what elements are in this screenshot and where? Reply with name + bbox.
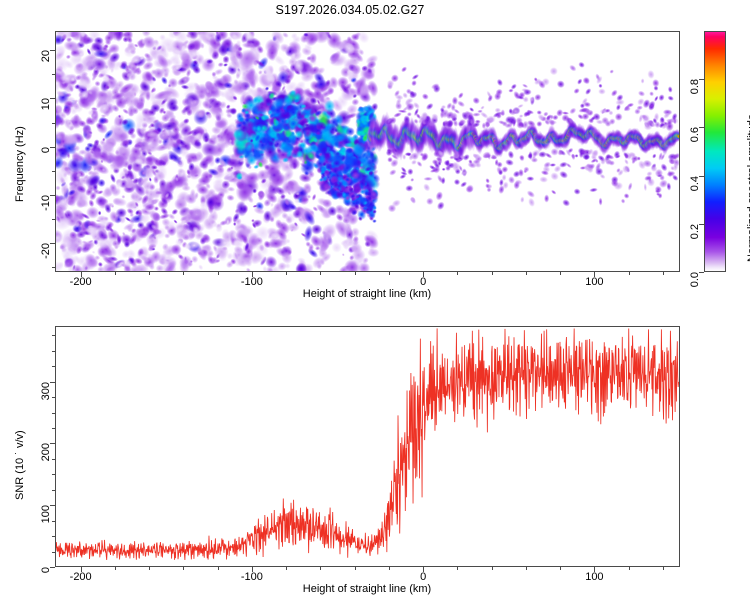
- colorbar-tick-label: 0.2: [689, 224, 701, 239]
- x-tick-minor: [355, 567, 356, 570]
- x-tick-minor: [457, 272, 458, 275]
- y-tick-minor: [52, 267, 55, 268]
- snr-x-axis-label: Height of straight line (km): [303, 583, 431, 595]
- colorbar-gradient: [704, 31, 726, 272]
- y-tick-minor: [52, 171, 55, 172]
- x-tick-minor: [355, 272, 356, 275]
- x-tick-minor: [286, 272, 287, 275]
- x-tick-label: -200: [70, 571, 92, 583]
- x-tick-minor: [115, 272, 116, 275]
- spectrogram-x-axis-label: Height of straight line (km): [303, 288, 431, 300]
- y-tick-minor: [52, 459, 55, 460]
- y-tick-minor: [52, 536, 55, 537]
- x-tick-minor: [663, 272, 664, 275]
- x-tick-label: -200: [70, 276, 92, 288]
- colorbar-label: Normalized spectral amplitude: [746, 114, 750, 262]
- x-tick-minor: [663, 567, 664, 570]
- x-tick-minor: [183, 567, 184, 570]
- x-tick-label: 100: [585, 571, 603, 583]
- y-tick-minor: [52, 366, 55, 367]
- y-tick-minor: [52, 521, 55, 522]
- colorbar-tick-label: 0.6: [689, 127, 701, 142]
- figure-canvas: S197.2026.034.05.02.G27 -200-1000100 201…: [0, 0, 750, 600]
- page-title: S197.2026.034.05.02.G27: [0, 3, 700, 17]
- x-tick-label: 0: [420, 276, 426, 288]
- y-tick-minor: [52, 335, 55, 336]
- x-tick-minor: [629, 567, 630, 570]
- y-tick-label: -10: [40, 195, 52, 211]
- snr-plot-area: [55, 326, 680, 567]
- x-tick-minor: [457, 567, 458, 570]
- x-tick-minor: [526, 272, 527, 275]
- x-tick-minor: [183, 272, 184, 275]
- x-tick-minor: [320, 567, 321, 570]
- y-tick-label: -20: [40, 243, 52, 259]
- y-tick-label: 100: [40, 505, 52, 523]
- x-tick-label: -100: [241, 276, 263, 288]
- y-tick-minor: [52, 474, 55, 475]
- colorbar-tick-label: 0.0: [689, 272, 701, 287]
- y-tick-label: 0: [40, 567, 52, 573]
- x-tick-minor: [218, 567, 219, 570]
- x-tick-minor: [389, 272, 390, 275]
- y-tick-label: 20: [40, 50, 52, 62]
- snr-line: [56, 328, 679, 560]
- y-tick-label: 200: [40, 443, 52, 461]
- x-tick-minor: [526, 567, 527, 570]
- x-tick-label: -100: [241, 571, 263, 583]
- colorbar-tick-label: 0.8: [689, 79, 701, 94]
- y-tick-minor: [52, 74, 55, 75]
- y-tick-minor: [52, 413, 55, 414]
- x-tick-minor: [492, 272, 493, 275]
- y-tick-minor: [52, 123, 55, 124]
- y-tick-label: 10: [40, 98, 52, 110]
- x-tick-minor: [492, 567, 493, 570]
- y-tick-minor: [52, 490, 55, 491]
- colorbar: 0.00.20.40.60.8: [704, 31, 726, 272]
- y-tick-minor: [52, 397, 55, 398]
- x-tick-minor: [560, 567, 561, 570]
- snr-y-axis-label: SNR (10 ˙ v/v): [14, 430, 26, 500]
- x-tick-minor: [389, 567, 390, 570]
- y-tick-minor: [52, 552, 55, 553]
- y-tick-minor: [52, 428, 55, 429]
- x-tick-minor: [115, 567, 116, 570]
- spectrogram-plot-area: [55, 31, 680, 272]
- x-tick-minor: [286, 567, 287, 570]
- y-tick-label: 300: [40, 382, 52, 400]
- colorbar-tick-label: 0.4: [689, 176, 701, 191]
- x-tick-minor: [149, 567, 150, 570]
- spectrogram-image: [56, 32, 679, 271]
- x-tick-minor: [320, 272, 321, 275]
- x-tick-label: 0: [420, 571, 426, 583]
- y-tick-minor: [52, 351, 55, 352]
- x-tick-minor: [629, 272, 630, 275]
- x-tick-minor: [218, 272, 219, 275]
- x-tick-label: 100: [585, 276, 603, 288]
- x-tick-minor: [560, 272, 561, 275]
- spectrogram-y-axis-label: Frequency (Hz): [14, 126, 26, 202]
- y-tick-label: 0: [40, 147, 52, 153]
- x-tick-minor: [149, 272, 150, 275]
- y-tick-minor: [52, 219, 55, 220]
- snr-trace: [56, 327, 679, 566]
